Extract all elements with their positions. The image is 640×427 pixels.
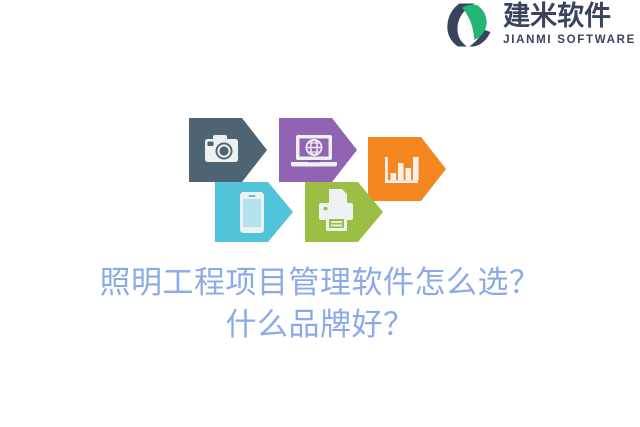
process-chevron-illustration xyxy=(189,118,451,234)
brand-text-block: 建米软件 JIANMI SOFTWARE xyxy=(503,3,636,47)
brand-name-en: JIANMI SOFTWARE xyxy=(503,35,636,47)
jianmi-leaf-logo-icon xyxy=(445,2,497,48)
chevron-smartphone xyxy=(215,182,293,242)
chevron-laptop-globe xyxy=(279,118,357,182)
page-title: 照明工程项目管理软件怎么选？ 什么品牌好？ xyxy=(0,262,640,346)
brand-logo: 建米软件 JIANMI SOFTWARE xyxy=(445,2,636,48)
brand-name-cn: 建米软件 xyxy=(503,3,636,30)
chevron-camera xyxy=(189,118,267,182)
chevron-printer xyxy=(305,182,383,242)
smartphone-icon xyxy=(240,192,264,233)
